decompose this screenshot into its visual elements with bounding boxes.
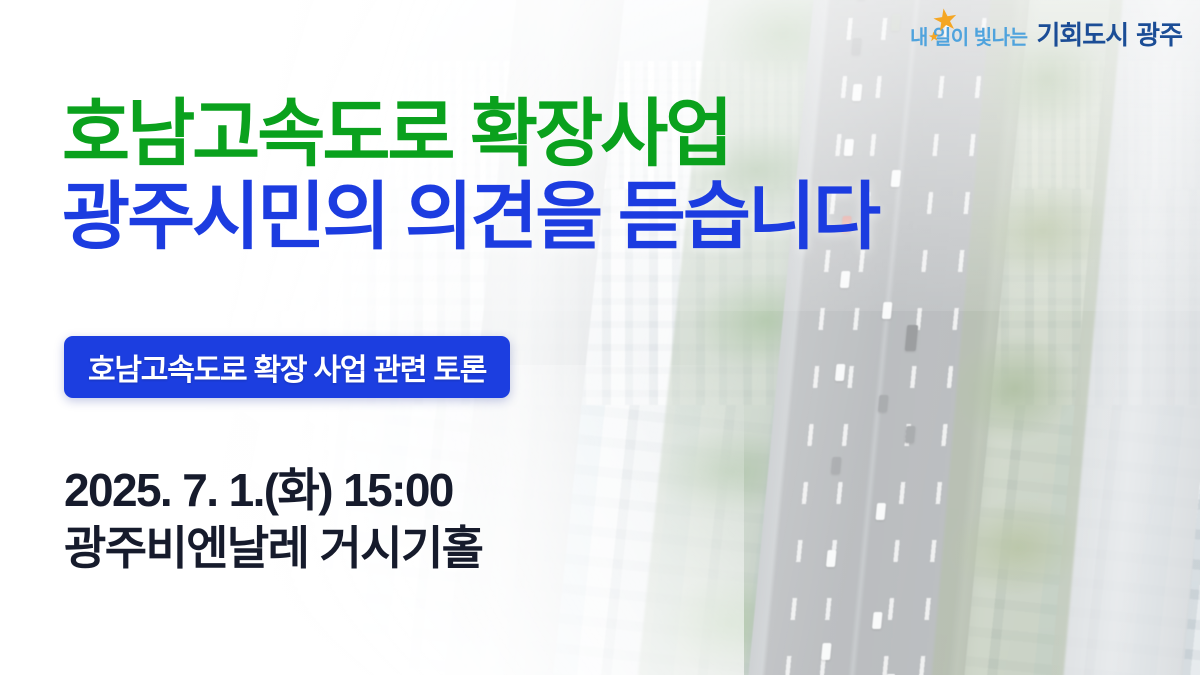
- logo-slogan: ★ 내 일이 빛나는: [908, 28, 1028, 48]
- poster-canvas: ★ 내 일이 빛나는 기회도시광주 호남고속도로 확장사업 광주시민의 의견을 …: [0, 0, 1200, 675]
- event-venue: 광주비엔날레 거시기홀: [64, 520, 482, 578]
- headline-line-2: 광주시민의 의견을 듣습니다: [62, 179, 878, 256]
- topic-badge-label: 호남고속도로 확장 사업 관련 토론: [88, 345, 486, 389]
- topic-badge: 호남고속도로 확장 사업 관련 토론: [64, 336, 510, 398]
- logo-city-text: 광주: [1136, 20, 1182, 50]
- headline-block: 호남고속도로 확장사업 광주시민의 의견을 듣습니다: [62, 96, 878, 256]
- event-datetime: 2025. 7. 1.(화) 15:00: [64, 462, 482, 520]
- logo-brand: 기회도시광주: [1036, 22, 1182, 48]
- logo-brand-text: 기회도시: [1036, 20, 1128, 50]
- event-details: 2025. 7. 1.(화) 15:00 광주비엔날레 거시기홀: [64, 462, 482, 578]
- star-small-icon: ★: [927, 29, 939, 43]
- poster-content: ★ 내 일이 빛나는 기회도시광주 호남고속도로 확장사업 광주시민의 의견을 …: [0, 0, 1200, 675]
- city-brand-logo: ★ 내 일이 빛나는 기회도시광주: [908, 22, 1182, 48]
- headline-line-1: 호남고속도로 확장사업: [62, 96, 878, 173]
